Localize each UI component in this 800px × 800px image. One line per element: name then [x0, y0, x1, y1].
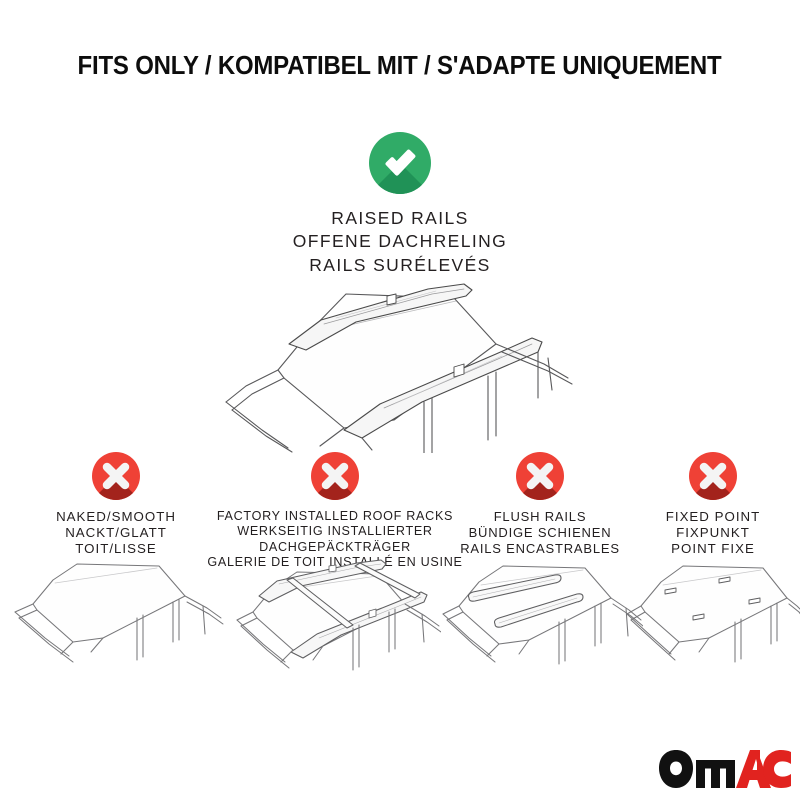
x-mark-icon — [516, 452, 564, 500]
compatible-label-fr: RAILS SURÉLEVÉS — [0, 254, 800, 277]
car-roof-raised-rails-illustration — [196, 278, 606, 453]
page-title: FITS ONLY / KOMPATIBEL MIT / S'ADAPTE UN… — [0, 52, 800, 81]
x-circle-icon — [311, 452, 359, 500]
x-circle-icon — [689, 452, 737, 500]
x-circle-icon — [92, 452, 140, 500]
incompatible-labels: NAKED/SMOOTH NACKT/GLATT TOIT/LISSE — [0, 509, 232, 558]
logo-letter-o — [659, 750, 693, 788]
incompatible-labels: FIXED POINT FIXPUNKT POINT FIXE — [626, 509, 800, 558]
compatible-labels: RAISED RAILS OFFENE DACHRELING RAILS SUR… — [0, 207, 800, 277]
car-roof-naked-smooth-illustration — [7, 556, 225, 686]
label-de: BÜNDIGE SCHIENEN — [442, 525, 638, 541]
label-de: FIXPUNKT — [626, 525, 800, 541]
incompatible-section: NAKED/SMOOTH NACKT/GLATT TOIT/LISSE — [0, 452, 800, 742]
check-mark-icon — [369, 132, 431, 194]
car-roof-fixed-point-illustration — [621, 552, 800, 682]
compatible-label-de: OFFENE DACHRELING — [0, 230, 800, 253]
incompatible-item-factory-roof-rack: FACTORY INSTALLED ROOF RACKS WERKSEITIG … — [204, 452, 466, 570]
label-en: FACTORY INSTALLED ROOF RACKS — [204, 509, 466, 524]
x-mark-icon — [92, 452, 140, 500]
incompatible-item-fixed-point: FIXED POINT FIXPUNKT POINT FIXE — [626, 452, 800, 558]
car-roof-factory-roof-rack-illustration — [229, 552, 441, 688]
x-mark-icon — [689, 452, 737, 500]
omac-logo-mark — [658, 748, 792, 790]
x-mark-icon — [311, 452, 359, 500]
label-de-1: WERKSEITIG INSTALLIERTER — [204, 524, 466, 539]
compatible-section: RAISED RAILS OFFENE DACHRELING RAILS SUR… — [0, 132, 800, 277]
label-en: NAKED/SMOOTH — [0, 509, 232, 525]
label-en: FLUSH RAILS — [442, 509, 638, 525]
label-de: NACKT/GLATT — [0, 525, 232, 541]
x-circle-icon — [516, 452, 564, 500]
compatible-label-en: RAISED RAILS — [0, 207, 800, 230]
logo-letter-a — [736, 750, 760, 788]
page-title-text: FITS ONLY / KOMPATIBEL MIT / S'ADAPTE UN… — [78, 52, 722, 81]
check-circle-icon — [369, 132, 431, 194]
omac-logo — [658, 748, 792, 790]
incompatible-labels: FLUSH RAILS BÜNDIGE SCHIENEN RAILS ENCAS… — [442, 509, 638, 557]
incompatible-item-naked-smooth: NAKED/SMOOTH NACKT/GLATT TOIT/LISSE — [0, 452, 232, 558]
logo-letter-m — [696, 760, 735, 788]
label-en: FIXED POINT — [626, 509, 800, 525]
car-roof-flush-rails-illustration — [437, 552, 643, 684]
incompatible-item-flush-rails: FLUSH RAILS BÜNDIGE SCHIENEN RAILS ENCAS… — [442, 452, 638, 557]
